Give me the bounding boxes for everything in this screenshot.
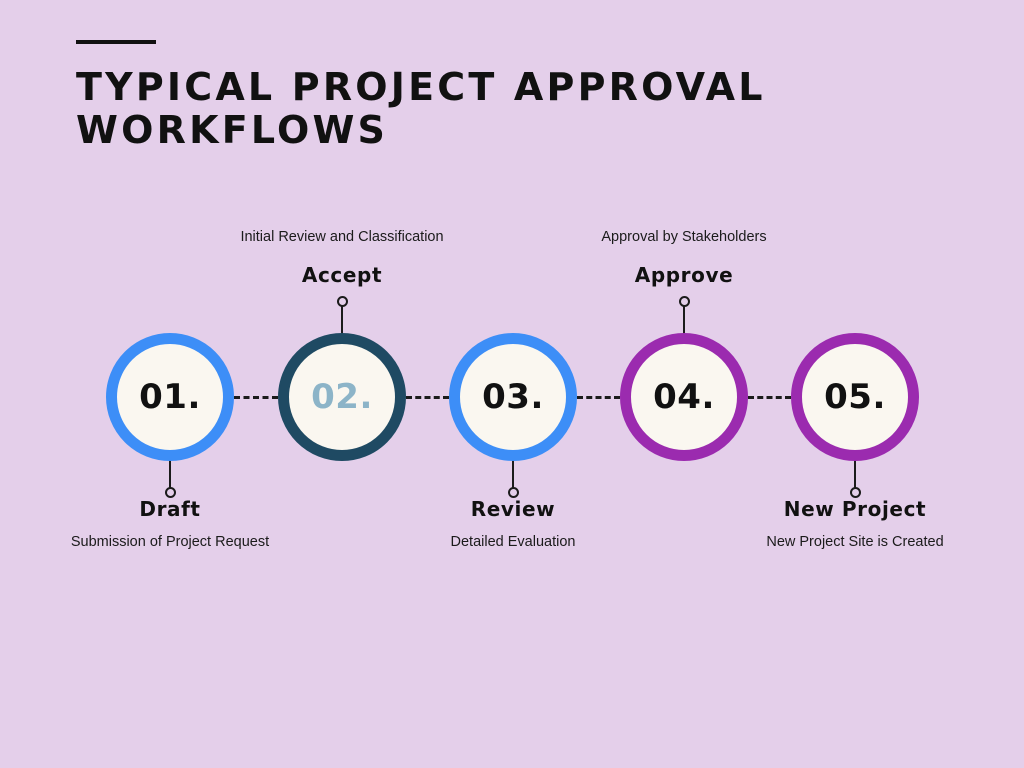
step-description-approve: Approval by Stakeholders <box>474 228 894 247</box>
step-stem-dot-draft <box>165 487 176 498</box>
step-circle-approve[interactable]: 04. <box>620 333 748 461</box>
step-circle-new-project[interactable]: 05. <box>791 333 919 461</box>
step-name-approve: Approve <box>474 263 894 287</box>
connector-dashed-2 <box>406 396 449 399</box>
step-label-group-approve: Approval by StakeholdersApprove <box>474 228 894 287</box>
connector-dashed-3 <box>577 396 620 399</box>
connector-dashed-4 <box>748 396 791 399</box>
step-number-draft: 01. <box>139 380 201 414</box>
step-label-group-new-project: New ProjectNew Project Site is Created <box>645 497 1024 552</box>
step-number-approve: 04. <box>653 380 715 414</box>
step-number-review: 03. <box>482 380 544 414</box>
step-description-new-project: New Project Site is Created <box>645 533 1024 552</box>
step-circle-review[interactable]: 03. <box>449 333 577 461</box>
step-circle-draft[interactable]: 01. <box>106 333 234 461</box>
process-timeline: 01.DraftSubmission of Project Request02.… <box>0 0 1024 768</box>
step-stem-dot-approve <box>679 296 690 307</box>
step-stem-dot-review <box>508 487 519 498</box>
step-stem-dot-new-project <box>850 487 861 498</box>
step-circle-accept[interactable]: 02. <box>278 333 406 461</box>
step-new-project[interactable]: 05. <box>791 333 919 461</box>
step-stem-dot-accept <box>337 296 348 307</box>
step-number-accept: 02. <box>311 380 373 414</box>
connector-dashed-1 <box>234 396 278 399</box>
step-accept[interactable]: 02. <box>278 333 406 461</box>
step-approve[interactable]: 04. <box>620 333 748 461</box>
step-name-new-project: New Project <box>645 497 1024 521</box>
step-number-new-project: 05. <box>824 380 886 414</box>
step-draft[interactable]: 01. <box>106 333 234 461</box>
step-review[interactable]: 03. <box>449 333 577 461</box>
